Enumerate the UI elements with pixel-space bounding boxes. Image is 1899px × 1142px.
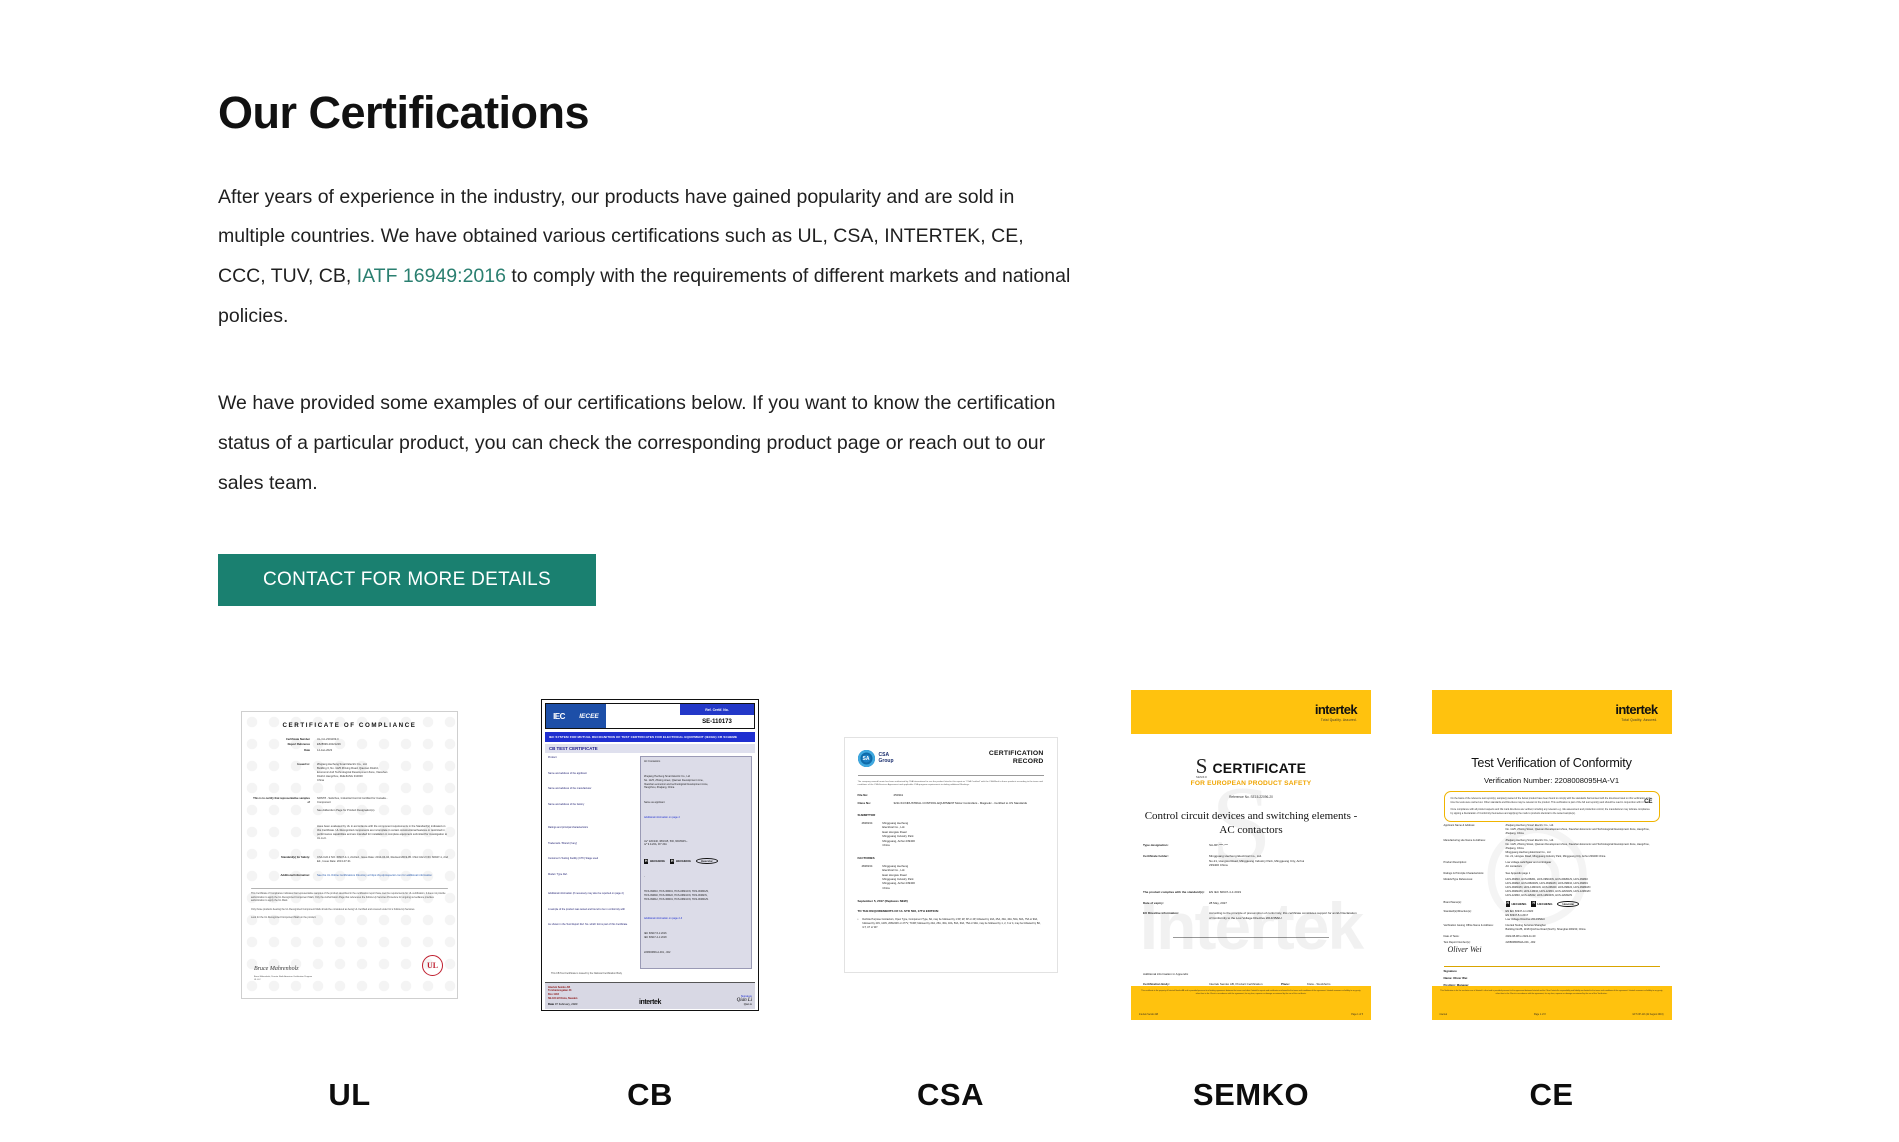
iecee-logo-icon: IECEE <box>572 704 606 728</box>
cb-row-key: Additional information (if necessary may… <box>548 892 636 896</box>
ul-signature: Bruce Mahrenholz <box>254 966 299 972</box>
semko-heading: Control circuit devices and switching el… <box>1143 809 1359 838</box>
ce-field: Brand Name(s): HHECHENG HHECHENG Heacsta… <box>1444 901 1660 907</box>
contact-for-more-details-button[interactable]: CONTACT FOR MORE DETAILS <box>218 554 596 606</box>
cb-row-key: Customer's Testing Facility (CTF) Stage … <box>548 857 636 861</box>
csa-factories-label: FACTORIES <box>858 856 1044 860</box>
cb-row-key: Name and address of the factory <box>548 803 636 807</box>
cb-subtitle: CB TEST CERTIFICATE <box>545 744 755 753</box>
ul-field-key: This is to certify that representative s… <box>251 797 317 813</box>
certificate-thumbnail-semko[interactable]: intertek Total Quality. Assured. S Inter… <box>1120 655 1383 1055</box>
ce-field: Verification Issuing Office Name & Addre… <box>1444 924 1660 932</box>
cb-reference-number: SE-110173 <box>680 715 754 728</box>
semko-divider <box>1173 937 1329 938</box>
cb-certificate-document: IEC IECEE Ref. Certif. No. SE-110173 IEC… <box>541 699 759 1011</box>
csa-field-value: 250341 <box>894 793 904 797</box>
semko-field-key: Date of expiry: <box>1143 901 1209 906</box>
ce-verification-row: Verification Number: 2208008095HA-V1 <box>1444 776 1660 785</box>
ce-brand-marks: HHECHENG HHECHENG Heacstar <box>1506 901 1660 907</box>
csa-brand-label: CSAGroup <box>879 753 894 765</box>
semko-s-mark-icon: S <box>1196 758 1208 776</box>
ce-footer-left: intertek <box>1440 1014 1448 1016</box>
semko-field-key: Certificate holder: <box>1143 854 1209 868</box>
ce-signer-name-label: Name: <box>1444 976 1453 980</box>
csa-submitter-address: Mingguang Hecheng Electrical Co., Ltd. E… <box>882 821 915 848</box>
ce-field: Ratings & Principle Characteristics:See … <box>1444 872 1660 876</box>
cb-row-value: Same as applicant <box>644 801 748 805</box>
intertek-logo-icon: intertek <box>1615 703 1657 716</box>
hecheng-badge-icon-2: HHECHENG <box>670 859 691 864</box>
content-column: Our Certifications After years of experi… <box>218 0 1678 606</box>
semko-place: Kista - Stockholm <box>1307 982 1359 986</box>
cb-keys-column: Product Name and address of the applican… <box>548 756 636 969</box>
csa-submitter-label: SUBMITTOR <box>858 813 1044 817</box>
cb-row-key: As shown in the Test Report Ref. No. whi… <box>548 923 636 927</box>
ce-field-value: See Appendix page 1 <box>1506 872 1660 876</box>
ul-field-key <box>251 825 317 841</box>
ul-field-row: Report ReferenceE528999-20221229 <box>251 743 448 747</box>
semko-appendix-note: Additional information in Appendix <box>1143 972 1359 977</box>
ce-verification-number: 2208008095HA-V1 <box>1554 776 1619 785</box>
semko-certificate-document: intertek Total Quality. Assured. S Inter… <box>1131 690 1371 1020</box>
ul-field-row: Have been evaluated by UL in accordance … <box>251 825 448 841</box>
csa-disclaimer: The company named herein has been author… <box>858 781 1044 788</box>
certificate-card-cb[interactable]: IEC IECEE Ref. Certif. No. SE-110173 IEC… <box>519 655 782 1113</box>
cb-row-value: IEC 60947-5-1:2016 IEC 60947-4-1:2018 <box>644 932 748 940</box>
semko-field-key: Type designation: <box>1143 843 1209 848</box>
csa-logo: SA CSAGroup <box>858 750 894 767</box>
ul-document-title: CERTIFICATE OF COMPLIANCE <box>251 722 448 729</box>
ul-field-key: Certificate Number <box>251 738 317 742</box>
semko-reference: Reference No. SE15-22096-20 <box>1143 795 1359 799</box>
ce-field-value: 2022-08-08 to 2022-11-30 <box>1506 935 1660 939</box>
ul-field-key: Standard(s) for Safety: <box>251 856 317 864</box>
semko-body: S Intertek S SEMKO CERTIFICATE FOR EUROP… <box>1131 734 1371 986</box>
intertek-tagline: Total Quality. Assured. <box>1615 718 1657 722</box>
csa-factories-block: 4828234Mingguang Hecheng Electrical Co.,… <box>862 864 1044 891</box>
certificates-gallery: CERTIFICATE OF COMPLIANCE Certificate Nu… <box>218 655 1683 1113</box>
ce-field: Applicant Name & Address:Zhejiang Hechen… <box>1444 824 1660 836</box>
csa-bullet-text: Definite Purpose Contactors, Open Type, … <box>862 918 1043 929</box>
intertek-logo: intertek Total Quality. Assured. <box>1615 703 1657 722</box>
cb-row-value: - <box>644 875 748 879</box>
cb-body: Product Name and address of the applican… <box>545 756 755 969</box>
ce-signer-row: Name: Oliver Wei <box>1444 976 1660 981</box>
csa-field-value: 3211 64 INDUSTRIAL CONTROL EQUIPMENT Mot… <box>894 801 1028 805</box>
ul-field-value: Have been evaluated by UL in accordance … <box>317 825 448 841</box>
cb-issuer-note: This CB Test Certificate is issued by th… <box>545 969 755 978</box>
csa-requirements: TO THE REQUIREMENTS OF UL STD 508, 17TH … <box>858 909 1044 913</box>
semko-footer-meta: Intertek Semko AB Page 1 of 5 <box>1139 1014 1363 1016</box>
cb-header: IEC IECEE Ref. Certif. No. SE-110173 <box>545 703 755 729</box>
ul-field-value: See the UL Online Certifications Directo… <box>317 874 448 878</box>
ce-field: Models/Type References:HCS-06M10, HCS-09… <box>1444 878 1660 898</box>
ce-field-key: Date of Tests: <box>1444 935 1506 939</box>
certificate-card-semko[interactable]: intertek Total Quality. Assured. S Inter… <box>1120 655 1383 1113</box>
hecheng-badge-icon: HHECHENG <box>644 859 665 864</box>
cb-date: 07 February, 2023 <box>555 1002 578 1006</box>
semko-footer-left: Intertek Semko AB <box>1139 1014 1158 1016</box>
certificate-label-cb: CB <box>627 1077 673 1113</box>
cb-row-key: Ratings and principal characteristics <box>548 826 636 830</box>
cb-values-column: AC Contactors Zhejiang Hecheng Smart Ele… <box>640 756 752 969</box>
ul-field-value: Zhejiang Hecheng Smart Electric Co., Ltd… <box>317 763 448 783</box>
csa-field: File No:250341 <box>858 793 1044 797</box>
bullet-icon: • <box>858 918 859 929</box>
ce-field-key: Verification Issuing Office Name & Addre… <box>1444 924 1506 932</box>
heacstar-badge-icon: Heacstar <box>1557 901 1579 907</box>
cb-row-value: AC Contactors <box>644 760 748 764</box>
cb-row-value: Additional information on page 2 <box>644 816 748 820</box>
ul-field-row: This is to certify that representative s… <box>251 797 448 813</box>
semko-document-title: CERTIFICATE <box>1212 760 1306 776</box>
cb-row-value: HCS-09M10, HCS-36M01, HCS-06M10/N, HCS-0… <box>644 890 748 901</box>
ce-top-band: intertek Total Quality. Assured. <box>1432 690 1672 734</box>
csa-document-title: CERTIFICATIONRECORD <box>989 750 1044 767</box>
cb-row-value: Zhejiang Hecheng Smart Electric Co., Ltd… <box>644 775 748 790</box>
ce-field-key: Standard(s)/Directive(s): <box>1444 910 1506 922</box>
ce-notice-box: On the basis of the reference test repor… <box>1444 791 1660 822</box>
semko-title-row: S SEMKO CERTIFICATE <box>1143 758 1359 779</box>
semko-appendix-text: Additional information in Appendix <box>1143 972 1359 977</box>
certificate-thumbnail-ul[interactable]: CERTIFICATE OF COMPLIANCE Certificate Nu… <box>218 655 481 1055</box>
ce-field: Standard(s)/Directive(s):EN IEC 60947-4-… <box>1444 910 1660 922</box>
cb-reference-block: Ref. Certif. No. SE-110173 <box>680 704 754 728</box>
csa-orb-icon: SA <box>858 750 875 767</box>
semko-field-value: SA-9P-****-*** <box>1209 843 1359 848</box>
cb-date-label: Date <box>548 1002 554 1006</box>
ce-field-key: Manufacturing site Name & Address: <box>1444 839 1506 859</box>
cb-footer: Intertek Semko AB Torshamnsgatan 43 Box … <box>545 982 755 1010</box>
ce-field-value: Intertek Testing Services Shanghai Build… <box>1506 924 1660 932</box>
certificate-label-ul: UL <box>328 1077 370 1113</box>
semko-field: The product complies with the standard(s… <box>1143 890 1359 895</box>
ce-field-key: Product Description: <box>1444 861 1506 869</box>
ce-position-label: Position: <box>1444 983 1456 986</box>
ul-field-value: NRNT8 - Switches, Industrial Control Cer… <box>317 797 448 813</box>
semko-field: EU Directive information:According to th… <box>1143 911 1359 920</box>
cb-row-value: Additional information on page 2-3 <box>644 917 748 921</box>
ul-field-key: Additional Information: <box>251 874 317 878</box>
ce-field: Product Description:Low voltage switchge… <box>1444 861 1660 869</box>
ce-field-key: Applicant Name & Address: <box>1444 824 1506 836</box>
ce-footer-meta: intertek Page 1 of 8 GFT-OP-11b (22 Augu… <box>1440 1014 1664 1016</box>
ce-field-key: Ratings & Principle Characteristics: <box>1444 872 1506 876</box>
csa-submitter-block: 4828234Mingguang Hecheng Electrical Co.,… <box>862 821 1044 848</box>
ce-verification-label: Verification Number: <box>1484 776 1552 785</box>
semko-footer-text: This certificate is the property of Inte… <box>1139 990 1363 996</box>
ce-footer-center: Page 1 of 8 <box>1534 1014 1546 1016</box>
ce-signature: Oliver Wei <box>1448 945 1660 954</box>
semko-field-value: According to the principle of presumptio… <box>1209 911 1359 920</box>
certificate-thumbnail-csa[interactable]: SA CSAGroup CERTIFICATIONRECORD The comp… <box>819 655 1082 1055</box>
semko-field: Type designation:SA-9P-****-*** <box>1143 843 1359 848</box>
intro-copy: After years of experience in the industr… <box>218 178 1073 505</box>
ul-field-value: UL-CA-2301169-0 <box>317 738 448 742</box>
ce-field-value: Zhejiang Hecheng Smart Electric Co., Ltd… <box>1506 839 1660 859</box>
cb-reference-label: Ref. Certif. No. <box>680 704 754 715</box>
ce-position: Manager <box>1457 983 1469 986</box>
certificate-label-csa: CSA <box>917 1077 984 1113</box>
semko-subtitle: FOR EUROPEAN PRODUCT SAFETY <box>1143 780 1359 787</box>
intertek-logo-icon: intertek <box>1315 703 1357 716</box>
ce-field-key: Models/Type References: <box>1444 878 1506 898</box>
semko-certbody-row: Certification Body: Intertek Semko AB, P… <box>1143 982 1359 986</box>
cb-row-key: Trademark / Brand (if any) <box>548 842 636 846</box>
csa-factories-address: Mingguang Hecheng Electrical Co., Ltd. E… <box>882 864 915 891</box>
ce-notice-text: On the basis of the reference test repor… <box>1451 797 1652 815</box>
semko-field-value: EN IEC 60947-4-1:2019 <box>1209 890 1359 895</box>
ul-certificate-document: CERTIFICATE OF COMPLIANCE Certificate Nu… <box>241 711 458 999</box>
cb-row-value: 220800809-A-001, -002 <box>644 951 748 955</box>
ul-footnote: Only those products bearing the UL Recog… <box>251 908 448 911</box>
ul-field-key: Report Reference <box>251 743 317 747</box>
cb-row-key: A sample of the product was tested and f… <box>548 908 636 912</box>
ul-footnote: This Certificate of Compliance indicates… <box>251 892 448 902</box>
ce-document-title: Test Verification of Conformity <box>1444 756 1660 770</box>
semko-place-label: Place: <box>1281 982 1307 986</box>
intertek-tagline: Total Quality. Assured. <box>1315 718 1357 722</box>
iec-logo-icon: IEC <box>546 704 572 728</box>
iatf-link[interactable]: IATF 16949:2016 <box>357 265 506 287</box>
ul-mark-icon: UL <box>422 955 443 976</box>
ce-footer-text: This Verification is for the exclusive u… <box>1440 990 1664 996</box>
csa-factories-id: 4828234 <box>862 864 873 891</box>
certificate-label-ce: CE <box>1529 1077 1573 1113</box>
csa-field-key: File No: <box>858 793 886 797</box>
csa-header: SA CSAGroup CERTIFICATIONRECORD <box>858 750 1044 767</box>
ce-certificate-document: intertek Total Quality. Assured. ◎ Test … <box>1432 690 1672 1020</box>
certificate-card-ul[interactable]: CERTIFICATE OF COMPLIANCE Certificate Nu… <box>218 655 481 1113</box>
csa-field: Class No:3211 64 INDUSTRIAL CONTROL EQUI… <box>858 801 1044 805</box>
ce-field: Manufacturing site Name & Address:Zhejia… <box>1444 839 1660 859</box>
ce-signer-name: Oliver Wei <box>1453 976 1467 980</box>
ce-body: ◎ Test Verification of Conformity Verifi… <box>1432 734 1672 986</box>
cb-row-value: Ue* 220/240, 380/415, 500, 660/690V~ Ie*… <box>644 840 748 848</box>
csa-submitter-id: 4828234 <box>862 821 873 848</box>
semko-top-band: intertek Total Quality. Assured. <box>1131 690 1371 734</box>
cb-row-key: Name and address of the applicant <box>548 772 636 776</box>
ul-field-row: Additional Information:See the UL Online… <box>251 874 448 878</box>
semko-mark-label: SEMKO <box>1196 776 1208 779</box>
ul-field-row: Certificate NumberUL-CA-2301169-0 <box>251 738 448 742</box>
semko-field: Date of expiry:28 May, 2027 <box>1143 901 1359 906</box>
intertek-logo: intertek Total Quality. Assured. <box>1315 703 1357 722</box>
ul-field-value: CSA C22.2 NO. 60947-4-1, 2nd Ed., Issue … <box>317 856 448 864</box>
semko-field-key: EU Directive information: <box>1143 911 1209 920</box>
ce-signature-label: Signature <box>1444 969 1660 974</box>
semko-field-key: The product complies with the standard(s… <box>1143 890 1209 895</box>
semko-footer-right: Page 1 of 5 <box>1351 1014 1363 1016</box>
intertek-logo-icon: intertek <box>616 999 684 1006</box>
ce-footer: This Verification is for the exclusive u… <box>1432 986 1672 1020</box>
ul-signature-caption: Bruce Mahrenholz, Director North America… <box>254 976 312 982</box>
certifications-page: Our Certifications After years of experi… <box>0 0 1899 1142</box>
cb-pager <box>626 655 674 658</box>
ul-field-value: 14-Jan-2023 <box>317 749 448 753</box>
cb-header-spacer <box>606 704 680 728</box>
semko-certbody: Intertek Semko AB, Product Certification <box>1209 982 1281 986</box>
ul-field-row: Issued to:Zhejiang Hecheng Smart Electri… <box>251 763 448 783</box>
semko-footer: This certificate is the property of Inte… <box>1131 986 1371 1020</box>
hecheng-badge-icon-2: HHECHENG <box>1531 901 1552 906</box>
ul-field-row: Standard(s) for Safety:CSA C22.2 NO. 609… <box>251 856 448 864</box>
ul-field-value: E528999-20221229 <box>317 743 448 747</box>
ce-field-value: EN IEC 60947-4-1:2020 EN 60947-5-1:2017 … <box>1506 910 1660 922</box>
page-title: Our Certifications <box>218 88 1678 138</box>
heacstar-badge-icon: Heacstar <box>696 858 718 864</box>
ce-field-value: HCS-06M10, HCS-09M01, HCS-09M10/N, HCS-0… <box>1506 878 1660 898</box>
csa-divider <box>858 775 1044 776</box>
csa-field-key: Class No: <box>858 801 886 805</box>
paragraph-1: After years of experience in the industr… <box>218 178 1073 338</box>
ce-field-value: Low voltage switchgear and controlgear A… <box>1506 861 1660 869</box>
certificate-label-semko: SEMKO <box>1193 1077 1309 1113</box>
csa-date-line: September 5, 2017 (Replaces NEW) <box>858 899 1044 903</box>
ul-field-key: Date <box>251 749 317 753</box>
paragraph-2: We have provided some examples of our ce… <box>218 384 1073 504</box>
ul-footnote: Look for the UL Recognized Component Mar… <box>251 916 448 919</box>
certificate-card-csa[interactable]: SA CSAGroup CERTIFICATIONRECORD The comp… <box>819 655 1082 1113</box>
semko-watermark: Intertek <box>1140 888 1362 964</box>
cb-banner: IEC SYSTEM FOR MUTUAL RECOGNITION OF TES… <box>545 732 755 742</box>
certificate-thumbnail-ce[interactable]: intertek Total Quality. Assured. ◎ Test … <box>1420 655 1683 1055</box>
cb-row-key: Product <box>548 756 636 760</box>
ce-field: Date of Tests:2022-08-08 to 2022-11-30 <box>1444 935 1660 939</box>
cb-row-key: Model / Type Ref. <box>548 873 636 877</box>
ce-position-row: Position: Manager <box>1444 983 1660 986</box>
hecheng-badge-icon: HHECHENG <box>1506 901 1527 906</box>
ul-field-row: Date14-Jan-2023 <box>251 749 448 753</box>
semko-field: Certificate holder:Mingguang Hecheng Ele… <box>1143 854 1359 868</box>
ce-field-key: Brand Name(s): <box>1444 901 1506 907</box>
certificate-thumbnail-cb[interactable]: IEC IECEE Ref. Certif. No. SE-110173 IEC… <box>519 655 782 1055</box>
cb-brand-marks: HHECHENG HHECHENG Heacstar <box>644 858 748 864</box>
cb-issuer: Intertek Semko AB Torshamnsgatan 43 Box … <box>548 986 616 1001</box>
csa-bullet: •Definite Purpose Contactors, Open Type,… <box>858 918 1044 929</box>
certificate-card-ce[interactable]: intertek Total Quality. Assured. ◎ Test … <box>1420 655 1683 1113</box>
ce-field-value: 2208008095HA-001, -002 <box>1506 941 1660 945</box>
ce-field-value: Zhejiang Hecheng Smart Electric Co., Ltd… <box>1506 824 1660 836</box>
cb-row-key: Name and address of the manufacturer <box>548 787 636 791</box>
ce-footer-right: GFT-OP-11b (22 August 2016) <box>1632 1014 1663 1016</box>
ul-field-key: Issued to: <box>251 763 317 783</box>
semko-field-value: Mingguang Hecheng Electrical Co., Ltd. N… <box>1209 854 1359 868</box>
semko-certbody-label: Certification Body: <box>1143 982 1209 986</box>
csa-certificate-document: SA CSAGroup CERTIFICATIONRECORD The comp… <box>844 737 1058 973</box>
semko-field-value: 28 May, 2027 <box>1209 901 1359 906</box>
ce-signature-line <box>1444 966 1660 967</box>
cb-signer: Qian Li <box>684 1003 752 1006</box>
